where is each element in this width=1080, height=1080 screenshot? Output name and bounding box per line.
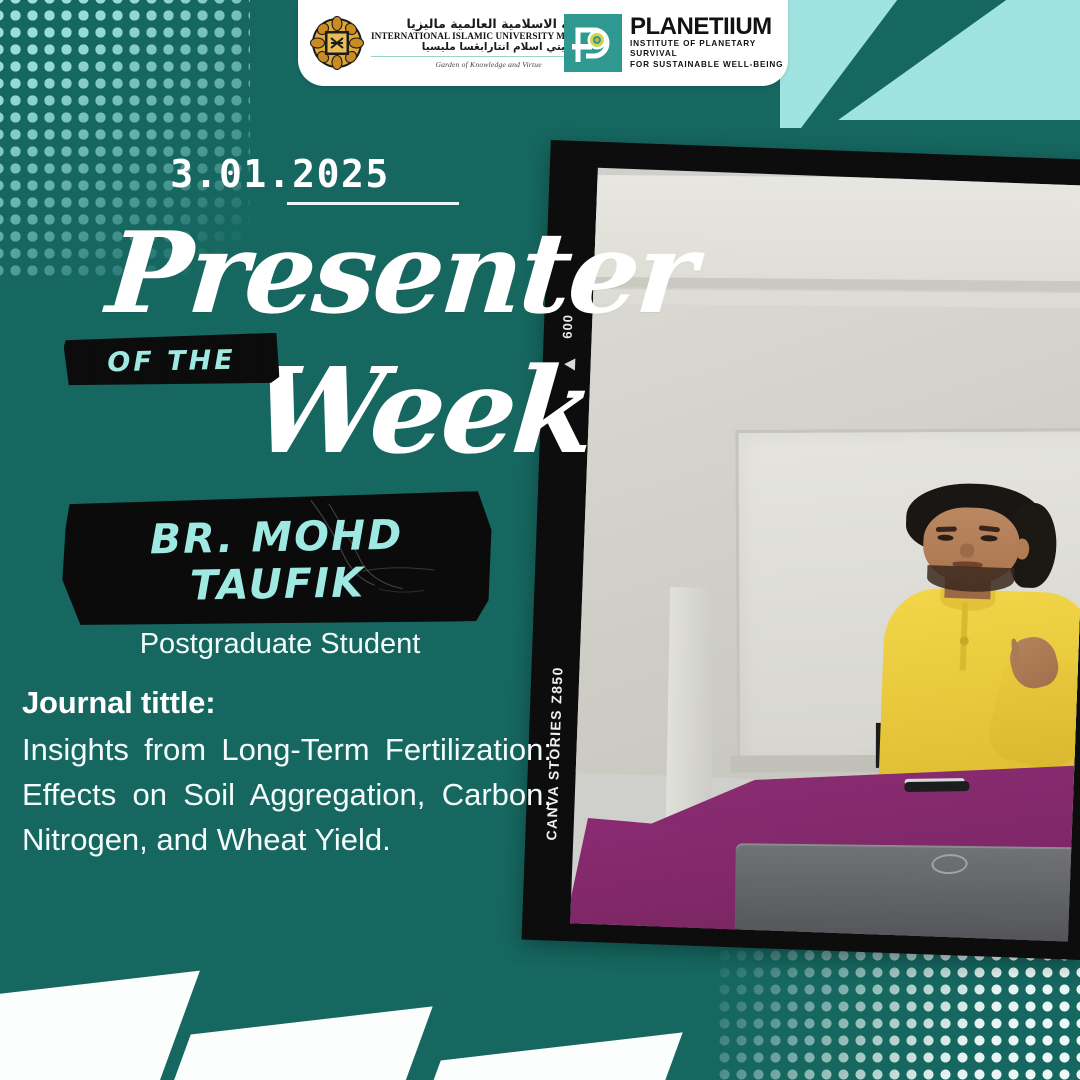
poster-canvas: 600 CANVA STORIES Z850	[0, 0, 1080, 1080]
presenter-role: Postgraduate Student	[0, 628, 560, 661]
film-code-label: 600	[560, 314, 576, 339]
planetiium-logo-text: PLANETIIUM INSTITUTE OF PLANETARY SURVIV…	[630, 16, 788, 70]
presenter-photo: 600 CANVA STORIES Z850	[522, 140, 1080, 960]
photo-scene	[570, 168, 1080, 942]
presenter-name-line-2: TAUFIK	[190, 559, 366, 609]
eyebrow-left	[935, 526, 956, 532]
iium-logo: الجامعة الاسلامية العالمية ماليزيا INTER…	[298, 16, 560, 70]
halftone-dots-top-left-icon	[0, 0, 250, 280]
presenter-name-line-1: BR. MOHD	[149, 511, 403, 563]
event-date: 3.01.2025	[0, 152, 560, 196]
journal-title-label: Journal tittle:	[22, 685, 215, 721]
eye-right	[981, 535, 997, 542]
presenter-name: BR. MOHD TAUFIK	[61, 496, 493, 626]
nose	[960, 543, 974, 558]
planetiium-subtitle-1: INSTITUTE OF PLANETARY SURVIVAL	[630, 39, 788, 60]
pen-on-table	[904, 781, 969, 792]
planetiium-name: PLANETIIUM	[630, 16, 788, 39]
journal-title-text: Insights from Long-Term Fertilization: E…	[22, 728, 552, 863]
headline-of-the: OF THE	[64, 335, 280, 387]
film-arrow-icon	[564, 358, 575, 370]
planetiium-emblem-icon	[564, 14, 622, 72]
date-underline	[287, 202, 459, 205]
planetiium-subtitle-2: FOR SUSTAINABLE WELL-BEING	[630, 60, 788, 70]
photo-image	[570, 168, 1080, 942]
laptop-screen-back	[735, 843, 1080, 941]
iium-emblem-icon	[310, 16, 364, 70]
logo-bar: الجامعة الاسلامية العالمية ماليزيا INTER…	[298, 0, 788, 86]
planetiium-logo: PLANETIIUM INSTITUTE OF PLANETARY SURVIV…	[560, 14, 788, 72]
